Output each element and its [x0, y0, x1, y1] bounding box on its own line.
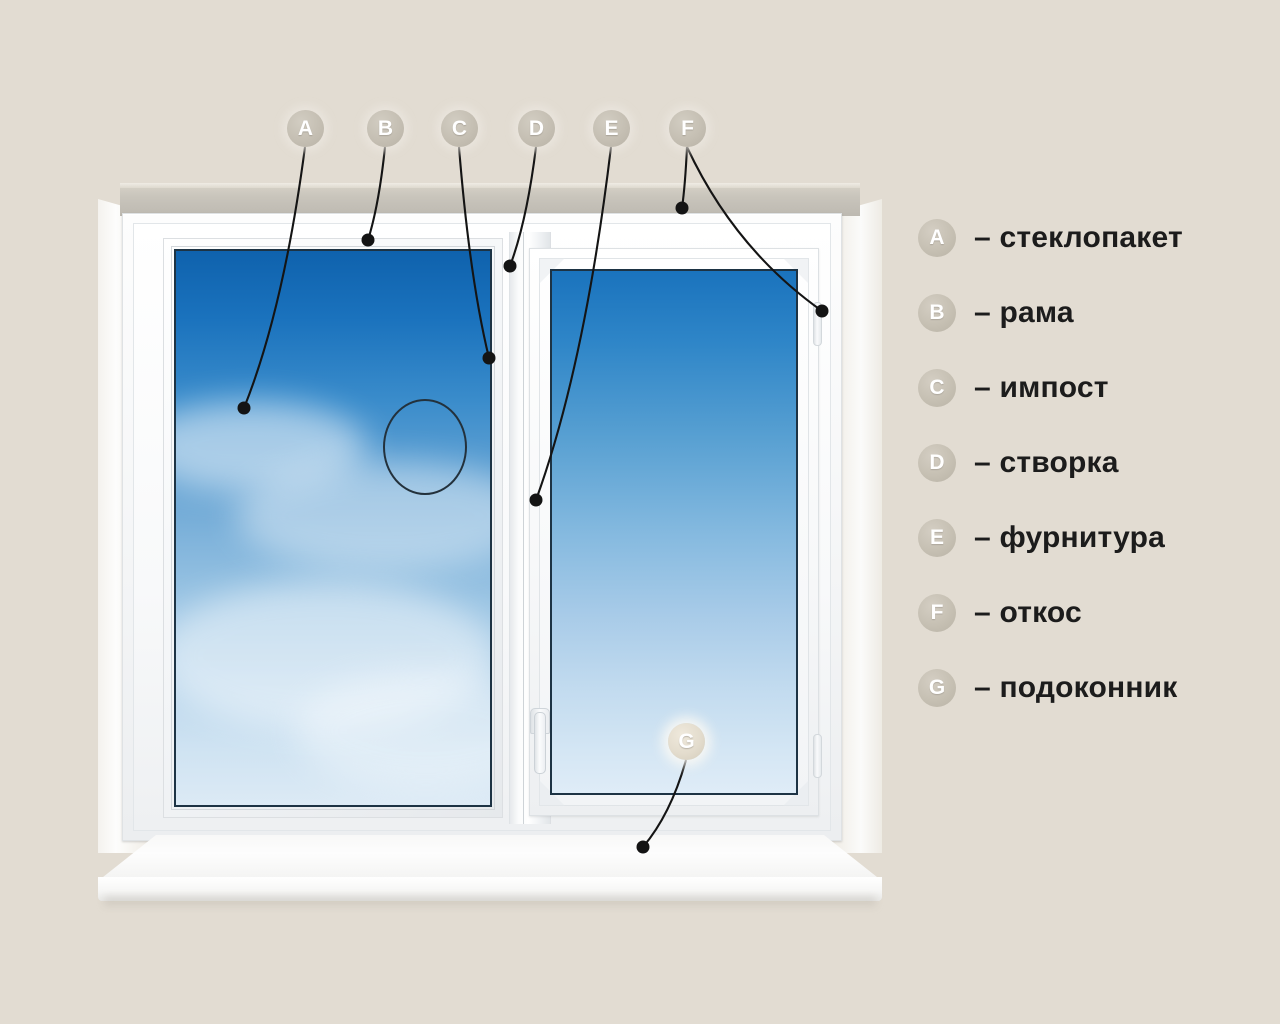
legend-term: стеклопакет [999, 221, 1182, 254]
legend-label-b: – рама [974, 296, 1074, 330]
callout-marker-a[interactable]: A [287, 110, 324, 147]
legend-label-g: – подоконник [974, 671, 1178, 705]
callout-marker-g[interactable]: G [668, 723, 705, 760]
window-sill-top-podokonnik [98, 835, 882, 881]
cloud-wisp [552, 367, 782, 477]
cloud-puff [552, 271, 702, 323]
legend-term: фурнитура [999, 521, 1165, 554]
legend-term: откос [999, 596, 1082, 629]
glass-unit-left-steklopaket [174, 249, 492, 807]
legend-badge-b: B [918, 294, 956, 332]
legend-dash: – [974, 446, 991, 479]
window-handle-furnitura[interactable] [534, 712, 546, 774]
callout-marker-e[interactable]: E [593, 110, 630, 147]
diagram-canvas: ABCDEFG A – стеклопакет B – рама C – имп… [0, 0, 1280, 1024]
reveal-top-lip [120, 183, 860, 188]
sill-drop-shadow [104, 897, 876, 909]
legend-label-e: – фурнитура [974, 521, 1165, 555]
legend-badge-f: F [918, 594, 956, 632]
legend-term: створка [999, 446, 1118, 479]
legend-item-f[interactable]: F – откос [918, 575, 1258, 650]
legend-badge-e: E [918, 519, 956, 557]
legend-label-a: – стеклопакет [974, 221, 1183, 255]
callout-marker-d[interactable]: D [518, 110, 555, 147]
legend-term: подоконник [999, 671, 1177, 704]
legend-item-d[interactable]: D – створка [918, 425, 1258, 500]
callout-marker-c[interactable]: C [441, 110, 478, 147]
legend-item-a[interactable]: A – стеклопакет [918, 200, 1258, 275]
legend-item-c[interactable]: C – импост [918, 350, 1258, 425]
legend-badge-d: D [918, 444, 956, 482]
hinge-upper-icon [813, 302, 822, 346]
legend-label-c: – импост [974, 371, 1109, 405]
hinge-lower-icon [813, 734, 822, 778]
legend-list: A – стеклопакет B – рама C – импост D – [918, 200, 1258, 725]
window-illustration [98, 183, 882, 908]
legend-dash: – [974, 521, 991, 554]
legend-dash: – [974, 371, 991, 404]
legend-term: рама [999, 296, 1073, 329]
left-fixed-light [163, 238, 503, 818]
legend-label-f: – откос [974, 596, 1082, 630]
window-frame-rama [122, 213, 842, 841]
glass-unit-right-steklopaket [550, 269, 798, 795]
cloud-wisp [552, 477, 798, 607]
legend-dash: – [974, 296, 991, 329]
legend-dash: – [974, 596, 991, 629]
hardware-highlight-ellipse [383, 399, 467, 495]
legend-badge-a: A [918, 219, 956, 257]
legend-badge-g: G [918, 669, 956, 707]
legend-term: импост [999, 371, 1108, 404]
legend-item-g[interactable]: G – подоконник [918, 650, 1258, 725]
legend-dash: – [974, 221, 991, 254]
callout-marker-f[interactable]: F [669, 110, 706, 147]
callout-marker-b[interactable]: B [367, 110, 404, 147]
legend-dash: – [974, 671, 991, 704]
legend-badge-c: C [918, 369, 956, 407]
cloud-puff [552, 323, 722, 367]
legend-item-e[interactable]: E – фурнитура [918, 500, 1258, 575]
legend-item-b[interactable]: B – рама [918, 275, 1258, 350]
legend-label-d: – створка [974, 446, 1119, 480]
